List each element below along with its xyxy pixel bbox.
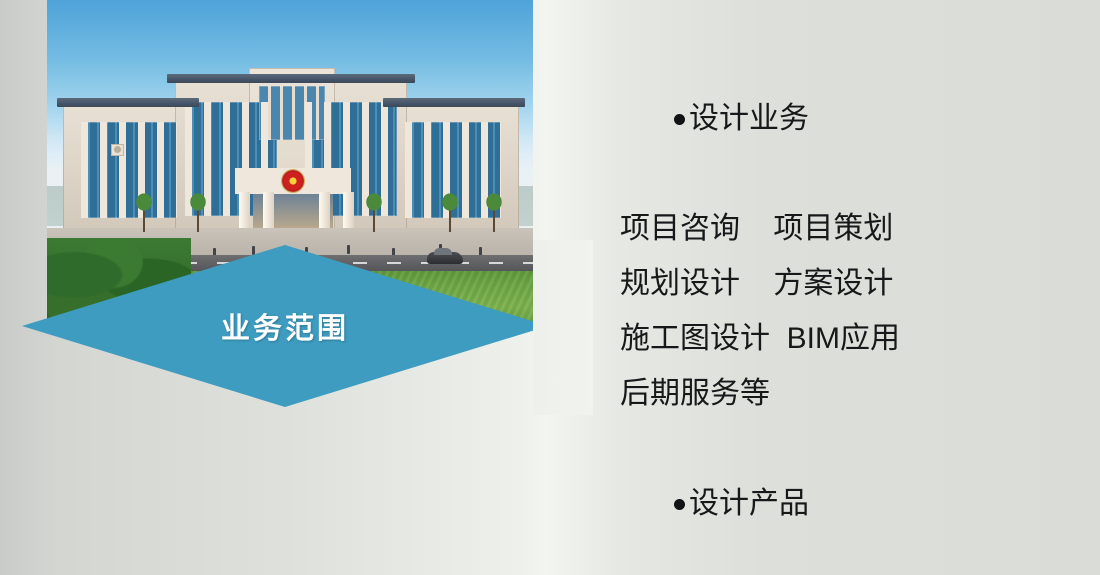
section-heading-design-services: 设计业务	[624, 36, 1050, 201]
bullet-dot-icon	[674, 114, 685, 125]
service-line: 施工图设计 BIM应用	[620, 311, 1050, 366]
roof-eave-mid-right	[289, 74, 415, 83]
services-text-panel: 设计业务 项目咨询 项目策划 规划设计 方案设计 施工图设计 BIM应用 后期服…	[620, 36, 1050, 575]
bullet-dot-icon	[674, 499, 685, 510]
street-tree	[449, 206, 451, 232]
service-line: 后期服务等	[620, 366, 1050, 421]
cornice-plaque-icon	[111, 144, 124, 156]
colonnade-left	[81, 122, 177, 218]
roof-eave-left	[57, 98, 199, 107]
service-line: 项目咨询 项目策划	[620, 201, 1050, 256]
street-tree	[197, 206, 199, 232]
national-emblem-icon	[282, 170, 304, 192]
roof-eave-right	[383, 98, 525, 107]
street-tree	[493, 206, 495, 232]
street-tree	[373, 206, 375, 232]
roof-eave-mid-left	[167, 74, 293, 83]
section-heading-design-products: 设计产品	[624, 421, 1050, 575]
service-line: 规划设计 方案设计	[620, 256, 1050, 311]
section-heading-label: 设计产品	[689, 487, 809, 520]
banner-title: 业务范围	[22, 245, 548, 407]
slide-canvas: 业务范围 设计业务 项目咨询 项目策划 规划设计 方案设计 施工图设计 BIM应…	[0, 0, 1100, 575]
street-tree	[143, 206, 145, 232]
section-heading-label: 设计业务	[689, 102, 809, 135]
